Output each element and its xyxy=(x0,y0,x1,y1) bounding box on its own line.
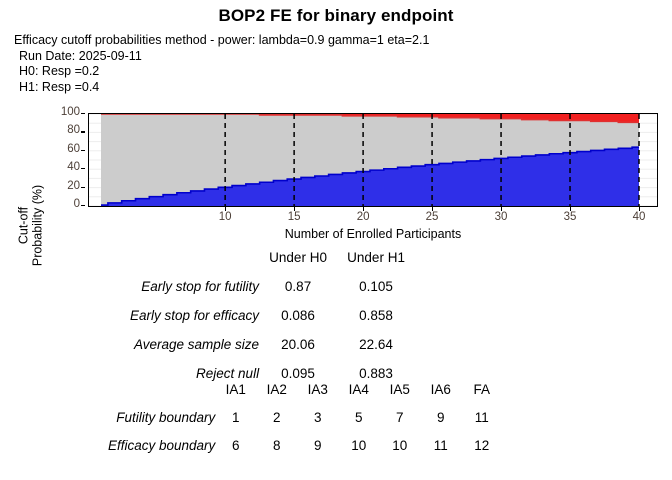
y-tick-mark-40 xyxy=(81,168,85,169)
subtitle-run-date: Run Date: 2025-09-11 xyxy=(14,49,429,65)
boundary-value: 7 xyxy=(379,403,420,431)
subtitle-block: Efficacy cutoff probabilities method - p… xyxy=(14,33,429,95)
x-tick-35: 35 xyxy=(564,211,577,223)
boundary-row-label: Efficacy boundary xyxy=(108,431,215,459)
subtitle-method-line: Efficacy cutoff probabilities method - p… xyxy=(14,33,429,49)
table-row: Futility boundary12357911 xyxy=(108,403,502,431)
y-tick-80: 80 xyxy=(54,124,80,136)
boundary-header-ia6: IA6 xyxy=(420,375,461,403)
boundary-value: 10 xyxy=(379,431,420,459)
stats-row-label: Average sample size xyxy=(130,330,259,359)
stats-value-h1: 22.64 xyxy=(337,330,415,359)
x-tick-30: 30 xyxy=(495,211,508,223)
stats-value-h0: 0.086 xyxy=(259,301,337,330)
stats-row-label: Early stop for efficacy xyxy=(130,301,259,330)
stats-value-h0: 20.06 xyxy=(259,330,337,359)
boundary-value: 5 xyxy=(338,403,379,431)
x-tick-mark-15 xyxy=(294,207,295,211)
table-row: Early stop for efficacy0.0860.858 xyxy=(130,301,415,330)
boundary-value: 11 xyxy=(420,431,461,459)
y-tick-0: 0 xyxy=(54,198,80,210)
x-tick-20: 20 xyxy=(357,211,370,223)
boundary-value: 2 xyxy=(256,403,297,431)
boundary-header-blank xyxy=(108,375,215,403)
stats-value-h0: 0.87 xyxy=(259,272,337,301)
y-tick-mark-20 xyxy=(81,187,85,188)
x-tick-mark-35 xyxy=(570,207,571,211)
boundary-table-body: Futility boundary12357911Efficacy bounda… xyxy=(108,403,502,459)
y-tick-40: 40 xyxy=(54,161,80,173)
boundary-header-ia4: IA4 xyxy=(338,375,379,403)
boundary-header-ia2: IA2 xyxy=(256,375,297,403)
stats-header-blank xyxy=(130,243,259,272)
boundary-table-header-row: IA1IA2IA3IA4IA5IA6FA xyxy=(108,375,502,403)
boundary-value: 10 xyxy=(338,431,379,459)
stats-header-under-h0: Under H0 xyxy=(259,243,337,272)
stats-row-label: Early stop for futility xyxy=(130,272,259,301)
stats-value-h1: 0.105 xyxy=(337,272,415,301)
y-tick-mark-60 xyxy=(81,150,85,151)
y-axis-tick-labels: 020406080100 xyxy=(50,105,80,225)
x-tick-25: 25 xyxy=(426,211,439,223)
stats-value-h1: 0.858 xyxy=(337,301,415,330)
x-tick-mark-20 xyxy=(363,207,364,211)
x-tick-10: 10 xyxy=(219,211,232,223)
boundary-value: 12 xyxy=(461,431,502,459)
boundary-value: 6 xyxy=(215,431,256,459)
table-row: Average sample size20.0622.64 xyxy=(130,330,415,359)
boundary-table-element: IA1IA2IA3IA4IA5IA6FA Futility boundary12… xyxy=(108,375,502,459)
x-tick-15: 15 xyxy=(288,211,301,223)
y-tick-mark-0 xyxy=(81,205,85,206)
boundary-header-ia5: IA5 xyxy=(379,375,420,403)
chart-plot-panel xyxy=(88,113,658,207)
page-title: BOP2 FE for binary endpoint xyxy=(0,6,672,26)
boundary-header-ia1: IA1 xyxy=(215,375,256,403)
boundary-value: 8 xyxy=(256,431,297,459)
x-tick-mark-10 xyxy=(225,207,226,211)
y-tick-60: 60 xyxy=(54,143,80,155)
x-tick-mark-30 xyxy=(501,207,502,211)
boundary-value: 9 xyxy=(420,403,461,431)
table-row: Early stop for futility0.870.105 xyxy=(130,272,415,301)
stats-table-body: Early stop for futility0.870.105Early st… xyxy=(130,272,415,388)
boundary-value: 1 xyxy=(215,403,256,431)
table-row: Efficacy boundary68910101112 xyxy=(108,431,502,459)
boundary-value: 3 xyxy=(297,403,338,431)
operating-characteristics-table: Under H0 Under H1 Early stop for futilit… xyxy=(0,243,672,388)
x-tick-40: 40 xyxy=(633,211,646,223)
cutoff-probability-chart: Cut-off Probability (%) 020406080100 101… xyxy=(0,105,672,240)
stats-table-element: Under H0 Under H1 Early stop for futilit… xyxy=(130,243,415,388)
boundary-header-ia3: IA3 xyxy=(297,375,338,403)
y-tick-20: 20 xyxy=(54,180,80,192)
y-tick-mark-80 xyxy=(81,131,85,132)
subtitle-h0: H0: Resp =0.2 xyxy=(14,64,429,80)
subtitle-h1: H1: Resp =0.4 xyxy=(14,80,429,96)
boundary-value: 11 xyxy=(461,403,502,431)
stats-header-under-h1: Under H1 xyxy=(337,243,415,272)
boundary-header-fa: FA xyxy=(461,375,502,403)
boundary-value: 9 xyxy=(297,431,338,459)
stats-table-header-row: Under H0 Under H1 xyxy=(130,243,415,272)
y-tick-mark-100 xyxy=(81,113,85,114)
chart-data-svg xyxy=(89,114,657,206)
x-tick-mark-25 xyxy=(432,207,433,211)
x-tick-mark-40 xyxy=(639,207,640,211)
x-axis-title: Number of Enrolled Participants xyxy=(88,227,658,241)
y-tick-100: 100 xyxy=(54,106,80,118)
boundary-row-label: Futility boundary xyxy=(108,403,215,431)
decision-boundary-table: IA1IA2IA3IA4IA5IA6FA Futility boundary12… xyxy=(0,375,672,459)
